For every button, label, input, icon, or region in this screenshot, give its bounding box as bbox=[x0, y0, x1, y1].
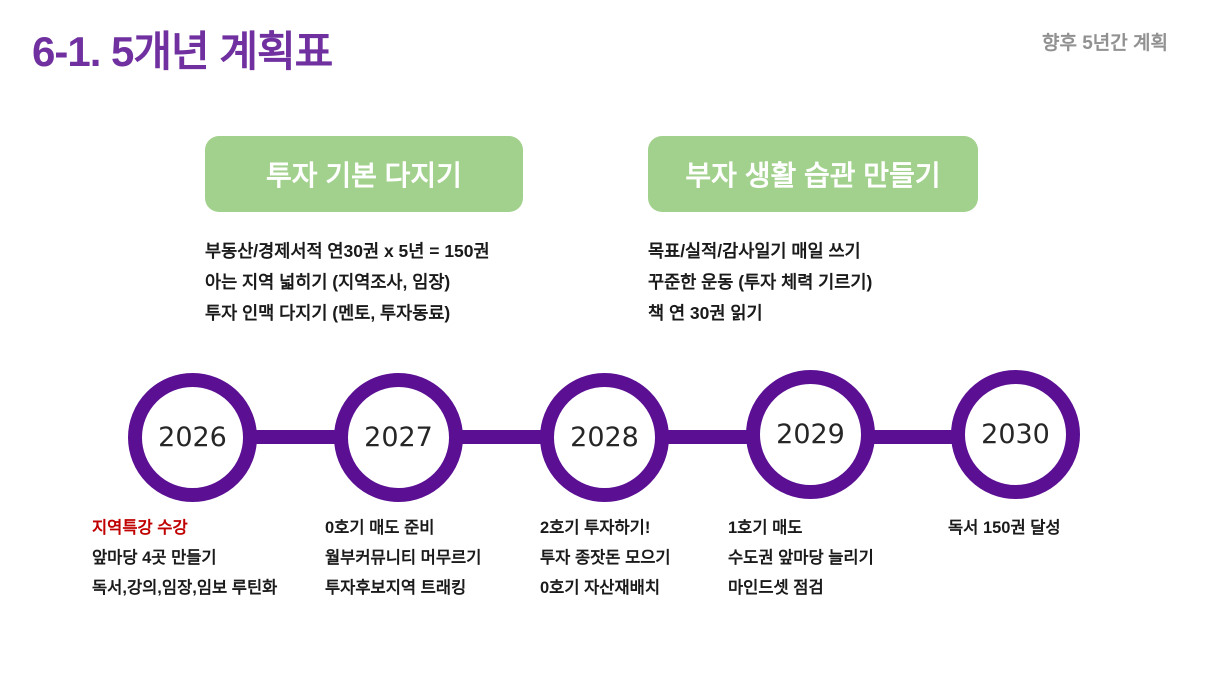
theme-box-rich-habits: 부자 생활 습관 만들기 bbox=[648, 136, 978, 212]
timeline-connector bbox=[250, 430, 342, 444]
year-details-2026: 지역특강 수강 앞마당 4곳 만들기 독서,강의,임장,임보 루틴화 bbox=[92, 513, 277, 603]
year-details-2028: 2호기 투자하기! 투자 종잣돈 모으기 0호기 자산재배치 bbox=[540, 513, 671, 603]
timeline-year-label: 2030 bbox=[981, 419, 1050, 450]
year-detail-line: 월부커뮤니티 머무르기 bbox=[325, 543, 481, 573]
year-detail-line: 0호기 매도 준비 bbox=[325, 513, 481, 543]
year-details-2030: 독서 150권 달성 bbox=[948, 513, 1061, 543]
year-detail-line: 투자후보지역 트래킹 bbox=[325, 573, 481, 603]
theme-bullet-line: 부동산/경제서적 연30권 x 5년 = 150권 bbox=[205, 236, 490, 267]
theme-bullet-line: 꾸준한 운동 (투자 체력 기르기) bbox=[648, 267, 872, 298]
timeline-year-label: 2026 bbox=[158, 422, 227, 453]
theme-bullet-line: 책 연 30권 읽기 bbox=[648, 298, 872, 329]
header-note: 향후 5년간 계획 bbox=[1042, 28, 1168, 55]
timeline-connector bbox=[456, 430, 548, 444]
theme-bullet-line: 투자 인맥 다지기 (멘토, 투자동료) bbox=[205, 298, 490, 329]
year-detail-line: 2호기 투자하기! bbox=[540, 513, 671, 543]
timeline-connector bbox=[662, 430, 754, 444]
theme-bullet-line: 목표/실적/감사일기 매일 쓰기 bbox=[648, 236, 872, 267]
slide-canvas: 6-1. 5개년 계획표 향후 5년간 계획 투자 기본 다지기 부동산/경제서… bbox=[0, 0, 1216, 684]
timeline-node-2027[interactable]: 2027 bbox=[334, 373, 463, 502]
year-detail-line: 독서 150권 달성 bbox=[948, 513, 1061, 543]
timeline-year-label: 2029 bbox=[776, 419, 845, 450]
year-detail-line: 지역특강 수강 bbox=[92, 513, 277, 543]
page-title: 6-1. 5개년 계획표 bbox=[32, 18, 332, 79]
theme-box-label: 부자 생활 습관 만들기 bbox=[685, 154, 940, 194]
timeline-connector bbox=[868, 430, 960, 444]
year-details-2027: 0호기 매도 준비 월부커뮤니티 머무르기 투자후보지역 트래킹 bbox=[325, 513, 481, 603]
year-detail-line: 앞마당 4곳 만들기 bbox=[92, 543, 277, 573]
year-detail-line: 마인드셋 점검 bbox=[728, 573, 874, 603]
theme-bullets-rich-habits: 목표/실적/감사일기 매일 쓰기 꾸준한 운동 (투자 체력 기르기) 책 연 … bbox=[648, 236, 872, 329]
timeline-year-label: 2028 bbox=[570, 422, 639, 453]
year-detail-line: 1호기 매도 bbox=[728, 513, 874, 543]
theme-bullets-investment-basics: 부동산/경제서적 연30권 x 5년 = 150권 아는 지역 넓히기 (지역조… bbox=[205, 236, 490, 329]
year-details-2029: 1호기 매도 수도권 앞마당 늘리기 마인드셋 점검 bbox=[728, 513, 874, 603]
timeline-node-2029[interactable]: 2029 bbox=[746, 370, 875, 499]
year-detail-line: 독서,강의,임장,임보 루틴화 bbox=[92, 573, 277, 603]
theme-box-investment-basics: 투자 기본 다지기 bbox=[205, 136, 523, 212]
year-detail-line: 투자 종잣돈 모으기 bbox=[540, 543, 671, 573]
timeline-year-label: 2027 bbox=[364, 422, 433, 453]
theme-bullet-line: 아는 지역 넓히기 (지역조사, 임장) bbox=[205, 267, 490, 298]
theme-box-label: 투자 기본 다지기 bbox=[266, 154, 462, 194]
timeline-node-2030[interactable]: 2030 bbox=[951, 370, 1080, 499]
year-detail-line: 0호기 자산재배치 bbox=[540, 573, 671, 603]
timeline-node-2028[interactable]: 2028 bbox=[540, 373, 669, 502]
year-detail-line: 수도권 앞마당 늘리기 bbox=[728, 543, 874, 573]
timeline-node-2026[interactable]: 2026 bbox=[128, 373, 257, 502]
timeline: 2026 2027 2028 2029 2030 bbox=[0, 360, 1216, 520]
